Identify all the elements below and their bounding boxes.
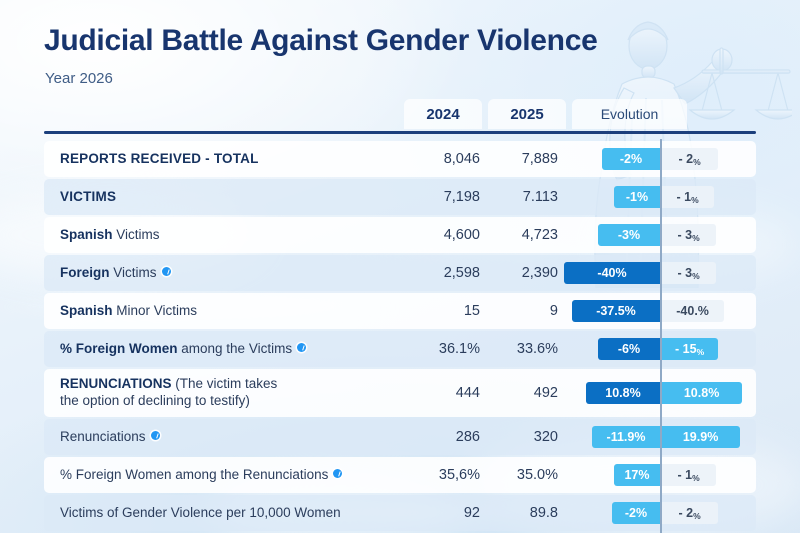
cell-evolution: -2%- 2% bbox=[572, 141, 756, 177]
info-badge-icon[interactable] bbox=[333, 469, 342, 478]
row-label-text: Renunciations bbox=[60, 429, 146, 444]
evolution-bar-right: - 1% bbox=[662, 186, 714, 208]
evolution-bar-left: -1% bbox=[614, 186, 660, 208]
evolution-bar-left: 10.8% bbox=[586, 382, 660, 404]
cell-2025: 89.8 bbox=[494, 495, 572, 531]
table-row: Foreign Victims2,5982,390-40%- 3% bbox=[44, 255, 756, 291]
row-label: Spanish Minor Victims bbox=[44, 293, 416, 329]
cell-evolution: -37.5%-40.% bbox=[572, 293, 756, 329]
evolution-bar-left: -3% bbox=[598, 224, 660, 246]
page-title: Judicial Battle Against Gender Violence bbox=[44, 24, 597, 58]
evolution-value: -37.5% bbox=[596, 304, 636, 318]
page-subtitle: Year 2026 bbox=[45, 70, 113, 87]
evolution-bar-right: - 1% bbox=[662, 464, 716, 486]
cell-evolution: -1%- 1% bbox=[572, 179, 756, 215]
evolution-bar-right: -40.% bbox=[662, 300, 724, 322]
data-table: REPORTS RECEIVED - TOTAL8,0467,889-2%- 2… bbox=[44, 141, 756, 533]
table-row: Renunciations286320-11.9%19.9% bbox=[44, 419, 756, 455]
info-badge-icon[interactable] bbox=[162, 267, 171, 276]
cell-2024: 8,046 bbox=[416, 141, 494, 177]
evolution-bar-left: -40% bbox=[564, 262, 660, 284]
cell-2025: 320 bbox=[494, 419, 572, 455]
table-row: REPORTS RECEIVED - TOTAL8,0467,889-2%- 2… bbox=[44, 141, 756, 177]
table-row: % Foreign Women among the Renunciations3… bbox=[44, 457, 756, 493]
info-badge-icon[interactable] bbox=[297, 343, 306, 352]
cell-2024: 7,198 bbox=[416, 179, 494, 215]
cell-2024: 444 bbox=[416, 369, 494, 417]
evolution-bar-right: 10.8% bbox=[662, 382, 742, 404]
row-label: Spanish Victims bbox=[44, 217, 416, 253]
table-row: % Foreign Women among the Victims36.1%33… bbox=[44, 331, 756, 367]
cell-evolution: -6%- 15% bbox=[572, 331, 756, 367]
evolution-value: -2% bbox=[625, 506, 647, 520]
evolution-bar-left: -2% bbox=[612, 502, 660, 524]
cell-2024: 35,6% bbox=[416, 457, 494, 493]
info-badge-icon[interactable] bbox=[151, 431, 160, 440]
cell-2024: 2,598 bbox=[416, 255, 494, 291]
row-label-text: among the Victims bbox=[178, 341, 293, 356]
evolution-bar-left: 17% bbox=[614, 464, 660, 486]
cell-2024: 286 bbox=[416, 419, 494, 455]
row-label: % Foreign Women among the Renunciations bbox=[44, 457, 416, 493]
cell-2025: 35.0% bbox=[494, 457, 572, 493]
row-label: Renunciations bbox=[44, 419, 416, 455]
evolution-bar-left: -6% bbox=[598, 338, 660, 360]
percent-sign: % bbox=[697, 347, 705, 357]
evolution-value: - 3% bbox=[678, 228, 700, 242]
table-row: Spanish Minor Victims159-37.5%-40.% bbox=[44, 293, 756, 329]
evolution-value: -1% bbox=[626, 190, 648, 204]
evolution-bar-right: - 2% bbox=[662, 502, 718, 524]
row-label-text: (The victim takes bbox=[172, 376, 278, 391]
percent-sign: % bbox=[693, 157, 701, 167]
row-label-emphasis: Spanish bbox=[60, 303, 113, 318]
column-header-evolution: Evolution bbox=[572, 99, 687, 129]
cell-2025: 4,723 bbox=[494, 217, 572, 253]
row-label: Foreign Victims bbox=[44, 255, 416, 291]
row-label-emphasis: % Foreign Women bbox=[60, 341, 178, 356]
evolution-value: - 1% bbox=[677, 190, 699, 204]
row-label: % Foreign Women among the Victims bbox=[44, 331, 416, 367]
cell-2025: 9 bbox=[494, 293, 572, 329]
evolution-value: -40% bbox=[597, 266, 626, 280]
column-header-2024: 2024 bbox=[404, 99, 482, 129]
row-label-emphasis: Foreign bbox=[60, 265, 110, 280]
row-label-emphasis: REPORTS RECEIVED - TOTAL bbox=[60, 151, 259, 166]
cell-2024: 36.1% bbox=[416, 331, 494, 367]
row-label-emphasis: VICTIMS bbox=[60, 189, 116, 204]
percent-sign: % bbox=[691, 195, 699, 205]
row-label: Victims of Gender Violence per 10,000 Wo… bbox=[44, 495, 416, 531]
row-label-emphasis: RENUNCIATIONS bbox=[60, 376, 172, 391]
column-headers: 2024 2025 Evolution bbox=[404, 99, 687, 129]
evolution-value: 17% bbox=[624, 468, 649, 482]
cell-evolution: 17%- 1% bbox=[572, 457, 756, 493]
evolution-value: 10.8% bbox=[684, 386, 719, 400]
row-label-text: Victims of Gender Violence per 10,000 Wo… bbox=[60, 505, 341, 520]
evolution-bar-right: 19.9% bbox=[662, 426, 740, 448]
row-label-text: Victims bbox=[113, 227, 160, 242]
evolution-bar-right: - 15% bbox=[662, 338, 718, 360]
cell-evolution: -40%- 3% bbox=[572, 255, 756, 291]
evolution-value: -2% bbox=[620, 152, 642, 166]
infographic-page: Judicial Battle Against Gender Violence … bbox=[0, 0, 800, 533]
cell-2024: 15 bbox=[416, 293, 494, 329]
row-label: RENUNCIATIONS (The victim takesthe optio… bbox=[44, 369, 416, 417]
evolution-bar-right: - 3% bbox=[662, 262, 716, 284]
row-label: REPORTS RECEIVED - TOTAL bbox=[44, 141, 416, 177]
evolution-bar-left: -11.9% bbox=[592, 426, 660, 448]
row-label-text: Minor Victims bbox=[113, 303, 198, 318]
header-rule bbox=[44, 131, 756, 134]
row-label-emphasis: Spanish bbox=[60, 227, 113, 242]
evolution-bar-left: -2% bbox=[602, 148, 660, 170]
evolution-bar-right: - 2% bbox=[662, 148, 718, 170]
percent-sign: % bbox=[692, 233, 700, 243]
table-row: Victims of Gender Violence per 10,000 Wo… bbox=[44, 495, 756, 531]
cell-2025: 7.113 bbox=[494, 179, 572, 215]
cell-evolution: -11.9%19.9% bbox=[572, 419, 756, 455]
evolution-value: 10.8% bbox=[605, 386, 640, 400]
row-label-text-line2: the option of declining to testify) bbox=[60, 393, 250, 408]
evolution-value: - 2% bbox=[679, 506, 701, 520]
table-row: RENUNCIATIONS (The victim takesthe optio… bbox=[44, 369, 756, 417]
evolution-value: -40.% bbox=[676, 304, 709, 318]
cell-evolution: -3%- 3% bbox=[572, 217, 756, 253]
evolution-value: - 3% bbox=[678, 266, 700, 280]
cell-2024: 92 bbox=[416, 495, 494, 531]
cell-2025: 492 bbox=[494, 369, 572, 417]
cell-2024: 4,600 bbox=[416, 217, 494, 253]
evolution-value: - 1% bbox=[678, 468, 700, 482]
evolution-value: -6% bbox=[618, 342, 640, 356]
column-header-2025: 2025 bbox=[488, 99, 566, 129]
percent-sign: % bbox=[693, 511, 701, 521]
row-label: VICTIMS bbox=[44, 179, 416, 215]
percent-sign: % bbox=[692, 473, 700, 483]
row-label-text: % Foreign Women among the Renunciations bbox=[60, 467, 328, 482]
table-row: VICTIMS7,1987.113-1%- 1% bbox=[44, 179, 756, 215]
cell-2025: 2,390 bbox=[494, 255, 572, 291]
table-row: Spanish Victims4,6004,723-3%- 3% bbox=[44, 217, 756, 253]
cell-evolution: 10.8%10.8% bbox=[572, 369, 756, 417]
cell-evolution: -2%- 2% bbox=[572, 495, 756, 531]
evolution-bar-left: -37.5% bbox=[572, 300, 660, 322]
evolution-value: -3% bbox=[618, 228, 640, 242]
evolution-value: - 15% bbox=[675, 342, 704, 356]
cell-2025: 33.6% bbox=[494, 331, 572, 367]
row-label-text: Victims bbox=[110, 265, 157, 280]
percent-sign: % bbox=[692, 271, 700, 281]
evolution-value: - 2% bbox=[679, 152, 701, 166]
evolution-value: -11.9% bbox=[607, 430, 646, 444]
evolution-bar-right: - 3% bbox=[662, 224, 716, 246]
cell-2025: 7,889 bbox=[494, 141, 572, 177]
evolution-value: 19.9% bbox=[683, 430, 718, 444]
